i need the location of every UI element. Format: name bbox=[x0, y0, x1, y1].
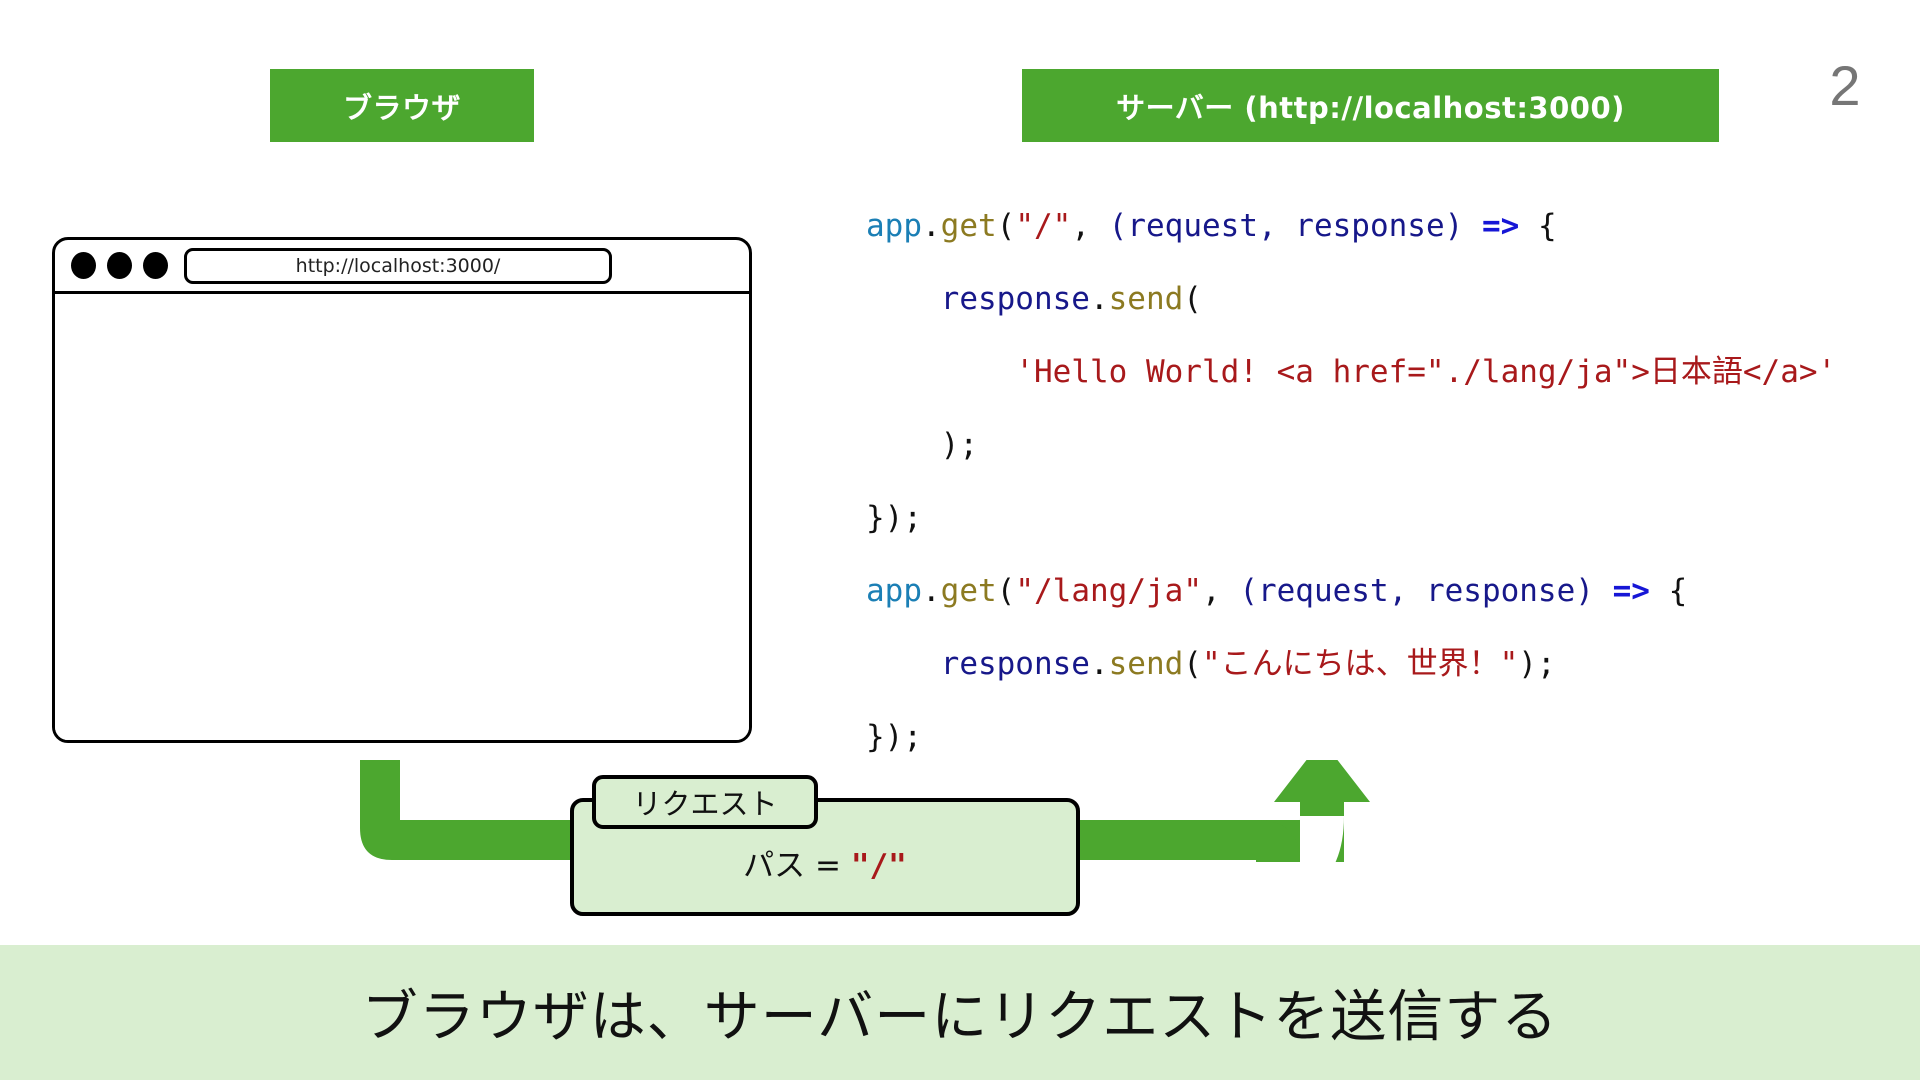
page-number: 2 bbox=[1800, 58, 1890, 114]
code-token-arw: => bbox=[1482, 208, 1519, 244]
code-indent bbox=[866, 354, 1015, 390]
code-token-obj: app bbox=[866, 208, 922, 244]
code-token-str: 'Hello World! <a href="./lang/ja">日本語</a… bbox=[1015, 354, 1836, 390]
server-section-header: サーバー (http://localhost:3000) bbox=[1022, 69, 1719, 142]
code-token-fn: get bbox=[941, 208, 997, 244]
code-token-obj: app bbox=[866, 573, 922, 609]
code-token-pun: ( bbox=[1183, 646, 1202, 682]
code-token-pun: . bbox=[1090, 646, 1109, 682]
code-token-pun: ( bbox=[1183, 281, 1202, 317]
code-token-pun: . bbox=[922, 208, 941, 244]
server-code-block: app.get("/", (request, response) => { re… bbox=[866, 190, 1886, 774]
code-token-par: response bbox=[941, 281, 1090, 317]
code-indent bbox=[866, 646, 941, 682]
code-token-pun: ); bbox=[941, 427, 978, 463]
window-control-dots bbox=[71, 252, 168, 279]
code-token-fn: send bbox=[1109, 646, 1184, 682]
code-token-str: "/" bbox=[1015, 208, 1071, 244]
request-path-value: "/" bbox=[851, 848, 907, 884]
code-token-pun: ( bbox=[997, 573, 1016, 609]
code-token-pun: ); bbox=[1518, 646, 1555, 682]
request-tab-label: リクエスト bbox=[592, 775, 818, 829]
code-token-str: "/lang/ja" bbox=[1015, 573, 1202, 609]
code-token-pun: { bbox=[1519, 208, 1556, 244]
request-path-label: パス = bbox=[743, 848, 851, 884]
code-token-pun: , bbox=[1202, 573, 1239, 609]
browser-section-header: ブラウザ bbox=[270, 69, 534, 142]
code-token-pun: . bbox=[922, 573, 941, 609]
code-token-pun bbox=[1463, 208, 1482, 244]
code-token-pun: }); bbox=[866, 500, 922, 536]
code-token-par: (request, response) bbox=[1109, 208, 1464, 244]
code-line: app.get("/lang/ja", (request, response) … bbox=[866, 555, 1886, 628]
code-token-arw: => bbox=[1613, 573, 1650, 609]
code-token-pun: { bbox=[1650, 573, 1687, 609]
code-line: 'Hello World! <a href="./lang/ja">日本語</a… bbox=[866, 336, 1886, 409]
caption-text: ブラウザは、サーバーにリクエストを送信する bbox=[362, 972, 1558, 1053]
code-token-str: "こんにちは、世界！" bbox=[1202, 646, 1518, 682]
code-token-fn: send bbox=[1109, 281, 1184, 317]
browser-viewport bbox=[55, 294, 749, 740]
code-line: response.send( bbox=[866, 263, 1886, 336]
maximize-dot-icon[interactable] bbox=[143, 252, 168, 279]
code-token-pun: ( bbox=[997, 208, 1016, 244]
code-token-pun bbox=[1594, 573, 1613, 609]
close-dot-icon[interactable] bbox=[71, 252, 96, 279]
caption-band: ブラウザは、サーバーにリクエストを送信する bbox=[0, 945, 1920, 1080]
url-text: http://localhost:3000/ bbox=[296, 255, 501, 277]
code-token-pun: }); bbox=[866, 719, 922, 755]
code-line: ); bbox=[866, 409, 1886, 482]
url-address-bar[interactable]: http://localhost:3000/ bbox=[184, 248, 612, 284]
code-indent bbox=[866, 427, 941, 463]
code-line: app.get("/", (request, response) => { bbox=[866, 190, 1886, 263]
code-token-fn: get bbox=[941, 573, 997, 609]
code-line: response.send("こんにちは、世界！"); bbox=[866, 628, 1886, 701]
code-token-pun: . bbox=[1090, 281, 1109, 317]
code-token-par: (request, response) bbox=[1239, 573, 1594, 609]
arrow-head bbox=[1274, 760, 1370, 802]
code-indent bbox=[866, 281, 941, 317]
browser-chrome-bar: http://localhost:3000/ bbox=[55, 240, 749, 294]
code-token-par: response bbox=[941, 646, 1090, 682]
minimize-dot-icon[interactable] bbox=[107, 252, 132, 279]
code-line: }); bbox=[866, 482, 1886, 555]
browser-window-mock: http://localhost:3000/ bbox=[52, 237, 752, 743]
code-token-pun: , bbox=[1071, 208, 1108, 244]
request-path-row: パス = "/" bbox=[574, 840, 1076, 885]
